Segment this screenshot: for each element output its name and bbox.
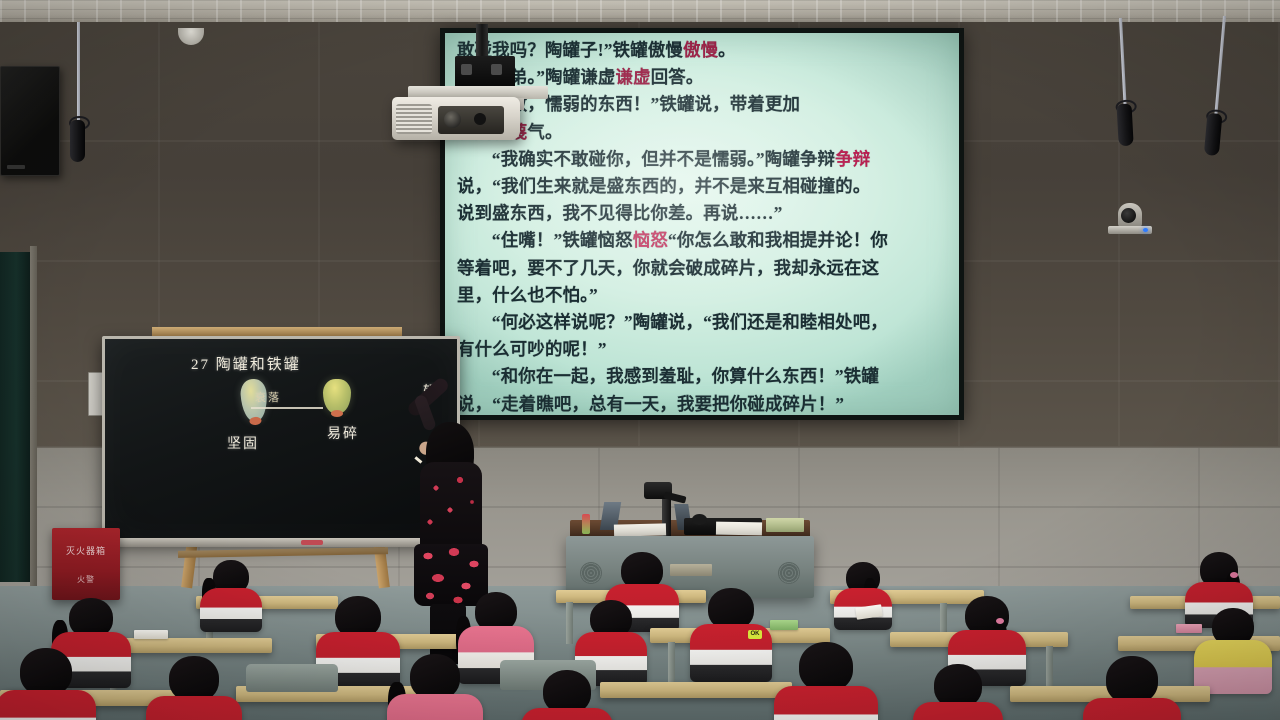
- paper-sheet: [614, 523, 666, 536]
- pencil-case-ok: OK: [748, 630, 762, 639]
- slide-line: 轻蔑轻蔑气。: [457, 119, 951, 146]
- podium-speaker-grill: [580, 562, 602, 584]
- slide-text-highlight: 傲慢: [683, 40, 718, 60]
- ceiling-projector: [392, 97, 520, 140]
- projector-focus-knob[interactable]: [474, 113, 486, 125]
- hair-clip: [996, 618, 1004, 624]
- slide-text-highlight: 争辩: [835, 149, 870, 169]
- teacher-podium[interactable]: [566, 486, 814, 598]
- notebook: [134, 630, 168, 639]
- student-uniform: [387, 694, 483, 720]
- student: [150, 656, 238, 720]
- classroom-door[interactable]: [0, 252, 32, 582]
- student-head: [20, 648, 72, 696]
- blackboard-left-label: 坚固: [227, 433, 259, 453]
- fire-extinguisher-box: 灭火器箱 火警: [52, 528, 120, 600]
- book-stack: [766, 518, 804, 532]
- slide-text-run: 回答。: [651, 67, 704, 87]
- student-uniform: [913, 702, 1003, 720]
- hair-clip: [1230, 572, 1238, 578]
- student-uniform: [774, 686, 878, 720]
- slide-text-run: 等着吧，要不了几天，你就会破成碎片，我却永远在这: [457, 258, 879, 278]
- student: [778, 642, 874, 720]
- slide-text-highlight: 谦虚: [616, 67, 651, 87]
- slide-line: “和你在一起，我感到羞耻，你算什么东西！”铁罐: [457, 363, 951, 390]
- slide-line: 里，什么也不怕。”: [457, 282, 951, 309]
- chalk-stick-icon: [414, 456, 422, 463]
- book: [770, 620, 798, 630]
- mic-capsule: [70, 120, 85, 162]
- computer-mouse[interactable]: [692, 514, 707, 525]
- chair-back: [246, 664, 338, 692]
- slide-text-run: “你怎么敢和我相提并论！你: [668, 230, 888, 250]
- projector-vent: [396, 104, 432, 134]
- fire-box-label-top: 灭火器箱: [58, 544, 114, 557]
- slide-text-run: 里，什么也不怕。”: [457, 285, 598, 305]
- teacher-coat: [420, 462, 482, 554]
- teacher: [404, 366, 500, 610]
- camera-lens-icon: [1121, 208, 1136, 223]
- student: [318, 596, 398, 672]
- slide-text-run: “何必这样说呢？”陶罐说，“我们还是和睦相处吧，: [492, 312, 888, 332]
- desk-leg: [566, 602, 573, 644]
- wall-speaker: [0, 66, 60, 176]
- student: [916, 664, 1000, 720]
- slide-text-run: “我确实不敢碰你，但并不是懦弱。”陶罐争辩: [492, 149, 835, 169]
- hanging-microphone-left: [76, 22, 81, 126]
- slide-text-highlight: 恼怒: [633, 230, 668, 250]
- student: [950, 596, 1024, 670]
- podium-body: [566, 536, 814, 598]
- slide-line: “住嘴！”铁罐恼怒恼怒“你怎么敢和我相提并论！你: [457, 227, 951, 254]
- student: [1196, 608, 1270, 678]
- blackboard-underline: [251, 407, 323, 409]
- easel-crossbar: [178, 547, 388, 558]
- student-head: [799, 642, 853, 692]
- door-jamb: [30, 246, 37, 586]
- ptz-camera: [1108, 198, 1152, 234]
- slide-line: “何必这样说呢？”陶罐说，“我们还是和睦相处吧，: [457, 309, 951, 336]
- student: [524, 670, 610, 720]
- student: OK: [692, 588, 770, 664]
- mic-cable: [77, 22, 80, 126]
- desk: [600, 682, 792, 698]
- slide-text-run: 说，“我们生来就是盛东西的，并不是来互相碰撞的。: [457, 176, 870, 196]
- slide-line: 有什么可吵的呢！”: [457, 336, 951, 363]
- student-uniform: [200, 588, 262, 632]
- blackboard-title: 27 陶罐和铁罐: [191, 353, 301, 374]
- water-bottle[interactable]: [582, 514, 590, 534]
- student: [200, 560, 262, 620]
- slide-text-run: “和你在一起，我感到羞耻，你算什么东西！”铁罐: [492, 366, 879, 386]
- student-uniform: [1083, 698, 1181, 720]
- student-uniform: [146, 696, 242, 720]
- slide-text-run: 有什么可吵的呢！”: [457, 339, 607, 359]
- slide-line: “我确实不敢碰你，但并不是懦弱。”陶罐争辩争辩: [457, 146, 951, 173]
- projector-mount-pole: [476, 24, 488, 58]
- slide-line: 说，“我们生来就是盛东西的，并不是来互相碰撞的。: [457, 173, 951, 200]
- student: [1086, 656, 1178, 720]
- student-head: [1106, 656, 1158, 704]
- fire-box-label-bottom: 火警: [58, 574, 114, 585]
- teacher-forearm: [413, 394, 437, 432]
- slide-text-run: “住嘴！”铁罐恼怒: [492, 230, 633, 250]
- slide-line: 说到盛东西，我不见得比你差。再说……”: [457, 200, 951, 227]
- student: [0, 648, 92, 720]
- projector-mount-bracket: [455, 56, 515, 88]
- slide-text-run: 说到盛东西，我不见得比你差。再说……”: [457, 203, 783, 223]
- status-led: [1143, 228, 1148, 232]
- slide-line: 敢碰我吗？陶罐子!”铁罐傲慢傲慢。: [457, 37, 951, 64]
- blackboard-right-label: 易碎: [327, 423, 359, 443]
- slide-text-run: 气。: [527, 122, 562, 142]
- student-uniform: [0, 690, 96, 720]
- classroom-scene: 敢碰我吗？陶罐子!”铁罐傲慢傲慢。铁罐兄弟。”陶罐谦虚谦虚回答。道你不敢，懦弱的…: [0, 0, 1280, 720]
- blackboard-middle-word: 衰落: [255, 389, 281, 405]
- student: [390, 654, 480, 720]
- paper-sheet: [716, 522, 762, 536]
- slide-line: 说，“走着瞧吧，总有一天，我要把你碰成碎片！”: [457, 391, 951, 415]
- slide-text-run: 说，“走着瞧吧，总有一天，我要把你碰成碎片！”: [457, 394, 844, 414]
- slide-text-run: 。: [718, 40, 736, 60]
- mic-capsule: [1117, 104, 1134, 147]
- student: [1186, 552, 1252, 614]
- iron-pot-drawing: [323, 379, 351, 413]
- slide-line: 等着吧，要不了几天，你就会破成碎片，我却永远在这: [457, 255, 951, 282]
- podium-speaker-grill: [778, 562, 800, 584]
- student-uniform: [521, 708, 613, 720]
- teacher-arm: [406, 376, 451, 419]
- projector-lens-icon: [444, 111, 461, 128]
